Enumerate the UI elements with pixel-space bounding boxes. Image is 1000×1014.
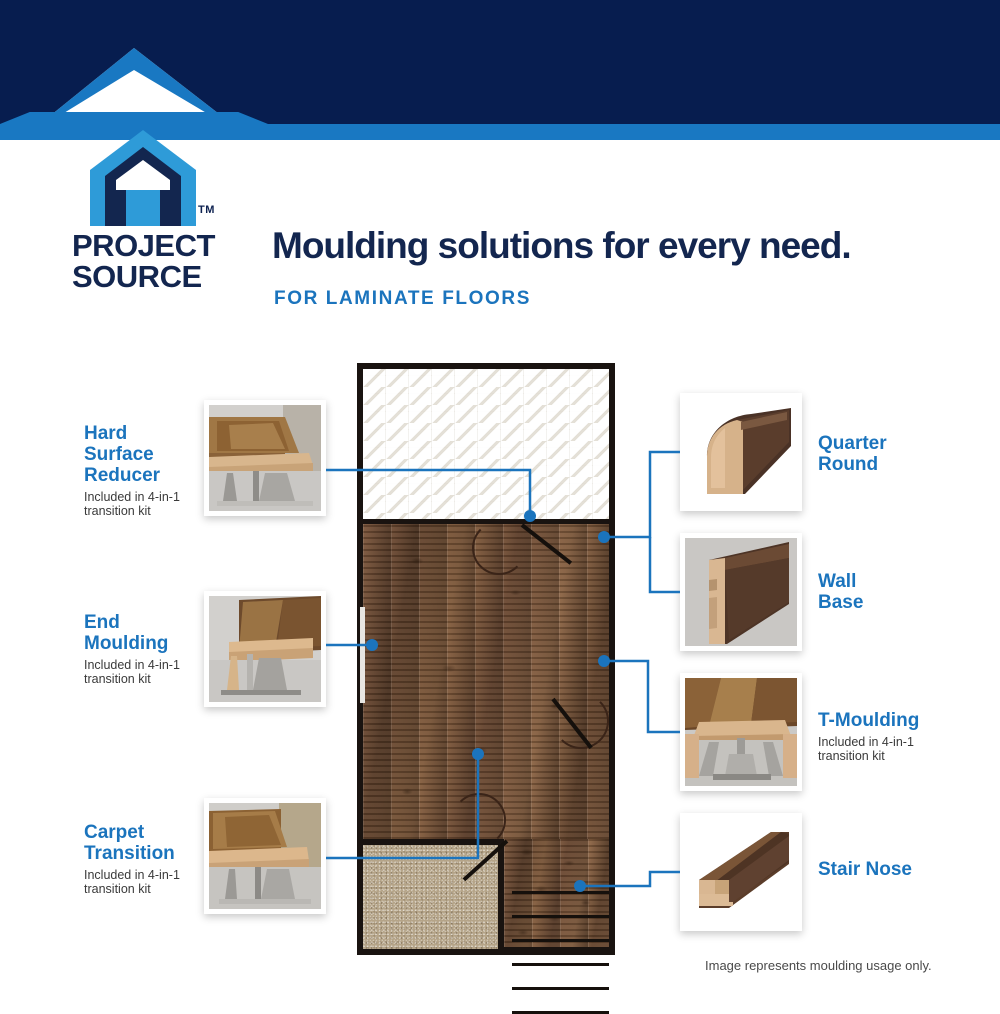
label-stair-nose: Stair Nose — [818, 859, 968, 880]
label-title: Wall Base — [818, 571, 958, 613]
brand-wordmark: PROJECT SOURCE — [72, 230, 242, 292]
page-subtitle: FOR LAMINATE FLOORS — [274, 288, 531, 310]
header-band — [0, 0, 1000, 140]
thumb-carpet-transition[interactable] — [204, 798, 326, 914]
label-quarter-round: Quarter Round — [818, 433, 958, 475]
brand-name-line1: PROJECT — [72, 230, 242, 261]
connector-wall-base — [650, 537, 680, 592]
thumb-stair-nose[interactable] — [680, 813, 802, 931]
wall-base-profile-icon — [685, 538, 797, 646]
label-title: End Moulding — [84, 612, 199, 654]
quarter-round-profile-icon — [685, 398, 797, 506]
region-tile-entry-room — [363, 369, 609, 519]
stair-edge — [504, 947, 609, 949]
label-note: Included in 4-in-1 transition kit — [84, 868, 202, 896]
trademark-symbol: TM — [198, 204, 215, 216]
hard-surface-reducer-profile-icon — [209, 405, 321, 511]
connector-t-moulding — [604, 661, 680, 732]
end-moulding-profile-icon — [209, 596, 321, 702]
label-note: Included in 4-in-1 transition kit — [84, 490, 194, 518]
label-hard-surface-reducer: Hard Surface Reducer Included in 4-in-1 … — [84, 423, 194, 518]
label-title: Stair Nose — [818, 859, 968, 880]
interior-wall-carpet-right — [498, 839, 504, 949]
stair-nose-profile-icon — [685, 818, 797, 926]
label-t-moulding: T-Moulding Included in 4-in-1 transition… — [818, 710, 968, 763]
thumb-hard-surface-reducer[interactable] — [204, 400, 326, 516]
label-wall-base: Wall Base — [818, 571, 958, 613]
label-note: Included in 4-in-1 transition kit — [84, 658, 199, 686]
label-title: T-Moulding — [818, 710, 968, 731]
label-title: Hard Surface Reducer — [84, 423, 194, 486]
label-note: Included in 4-in-1 transition kit — [818, 735, 968, 763]
footnote: Image represents moulding usage only. — [705, 958, 932, 973]
brand-name-line2: SOURCE — [72, 261, 242, 292]
label-title: Carpet Transition — [84, 822, 202, 864]
floorplan-diagram — [357, 363, 615, 955]
thumb-t-moulding[interactable] — [680, 673, 802, 791]
window-left-wall — [360, 607, 365, 703]
brand-logo: TM PROJECT SOURCE — [76, 130, 226, 305]
region-hallway-wood — [504, 839, 609, 949]
carpet-transition-profile-icon — [209, 803, 321, 909]
door-swing-bottom — [452, 793, 506, 847]
house-p-logo-icon — [90, 130, 196, 226]
connector-quarter-round — [604, 452, 680, 537]
label-title: Quarter Round — [818, 433, 958, 475]
door-swing-top — [472, 521, 526, 575]
thumb-wall-base[interactable] — [680, 533, 802, 651]
door-swing-right — [553, 693, 609, 749]
thumb-end-moulding[interactable] — [204, 591, 326, 707]
thumb-quarter-round[interactable] — [680, 393, 802, 511]
t-moulding-profile-icon — [685, 678, 797, 786]
label-end-moulding: End Moulding Included in 4-in-1 transiti… — [84, 612, 199, 686]
page-title: Moulding solutions for every need. — [272, 226, 851, 266]
label-carpet-transition: Carpet Transition Included in 4-in-1 tra… — [84, 822, 202, 896]
